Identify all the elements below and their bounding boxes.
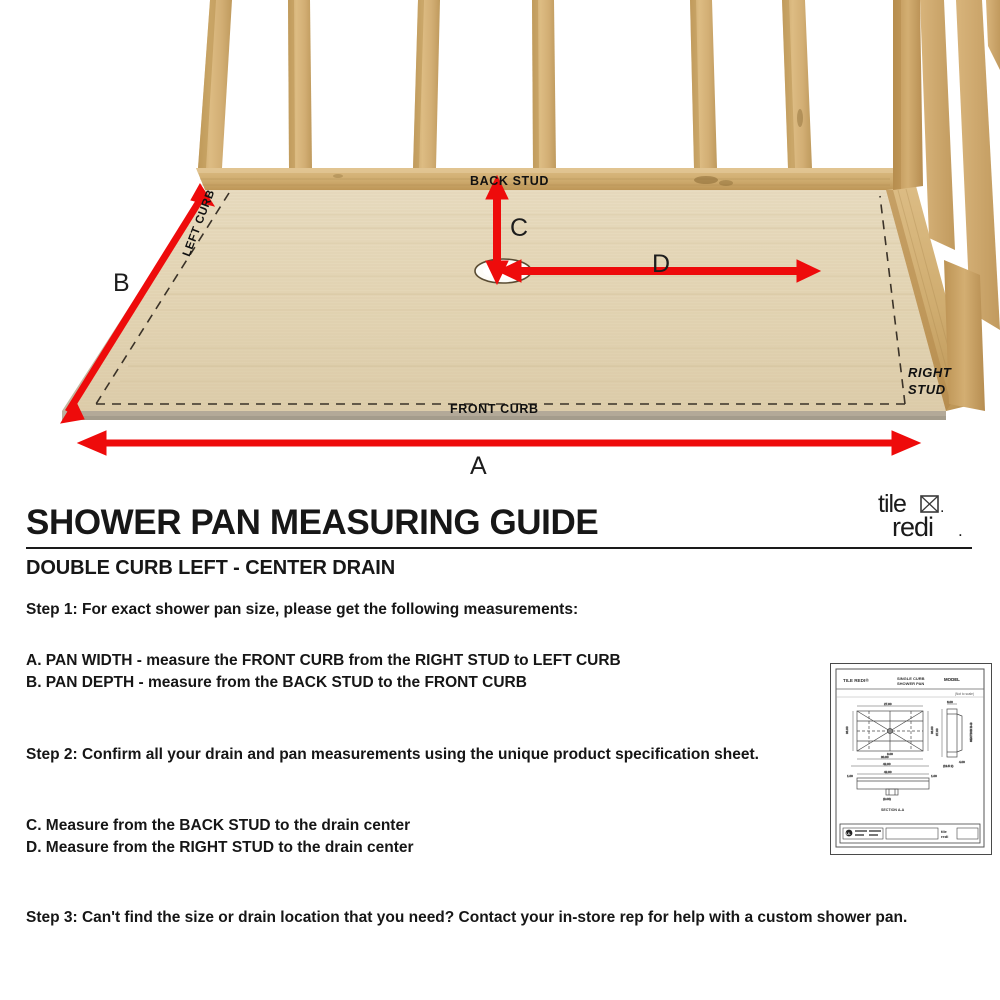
specification-sheet-thumbnail: TILE REDI® SINGLE CURB SHOWER PAN MODEL … xyxy=(830,663,992,855)
measurement-a-text: A. PAN WIDTH - measure the FRONT CURB fr… xyxy=(26,650,826,672)
spec-section-a-label: SECTION A-A xyxy=(881,808,905,812)
back-wall-framing xyxy=(196,0,893,190)
page-title: SHOWER PAN MEASURING GUIDE xyxy=(26,503,726,543)
tile-x-icon xyxy=(921,496,938,512)
svg-text:42.00: 42.00 xyxy=(883,762,891,766)
dimension-letter-b: B xyxy=(113,269,130,298)
measurements-cd: C. Measure from the BACK STUD to the dra… xyxy=(26,815,826,859)
label-right-stud-line1: RIGHT xyxy=(908,364,951,381)
svg-text:.: . xyxy=(940,499,944,516)
dimension-letter-d: D xyxy=(652,250,671,279)
svg-text:redi: redi xyxy=(892,512,933,542)
spec-header-right: MODEL xyxy=(944,677,960,682)
page-subtitle: DOUBLE CURB LEFT - CENTER DRAIN xyxy=(26,557,395,580)
measurement-c-text: C. Measure from the BACK STUD to the dra… xyxy=(26,815,826,837)
svg-text:3.00: 3.00 xyxy=(887,752,893,756)
svg-text:4.00: 4.00 xyxy=(959,760,965,764)
svg-text:37.00: 37.00 xyxy=(935,728,939,736)
right-stud xyxy=(986,0,1000,70)
shower-pan-illustration: BACK STUD FRONT CURB LEFT CURB RIGHT STU… xyxy=(0,0,1000,487)
step-1-text: Step 1: For exact shower pan size, pleas… xyxy=(26,599,826,621)
svg-text:36.00: 36.00 xyxy=(930,726,934,734)
svg-text:1.00: 1.00 xyxy=(931,774,937,778)
label-right-stud: RIGHT STUD xyxy=(908,364,951,398)
svg-text:27.00: 27.00 xyxy=(884,702,892,706)
measurement-b-text: B. PAN DEPTH - measure from the BACK STU… xyxy=(26,672,826,694)
svg-text:36.00: 36.00 xyxy=(845,726,849,734)
svg-text:42.00: 42.00 xyxy=(884,770,892,774)
label-front-curb: FRONT CURB xyxy=(450,402,539,416)
svg-text:6.00: 6.00 xyxy=(947,700,953,704)
svg-text:UL: UL xyxy=(846,832,851,836)
right-stud xyxy=(920,0,955,250)
svg-text:(3.00): (3.00) xyxy=(883,797,891,801)
step-2-text: Step 2: Confirm all your drain and pan m… xyxy=(26,744,826,766)
svg-text:.: . xyxy=(958,521,963,540)
svg-text:SHOWER PAN: SHOWER PAN xyxy=(897,681,924,686)
svg-text:1.00: 1.00 xyxy=(847,774,853,778)
arrow-a xyxy=(78,431,920,455)
dimension-letter-a: A xyxy=(470,452,487,481)
measurements-ab: A. PAN WIDTH - measure the FRONT CURB fr… xyxy=(26,650,826,694)
dimension-letter-c: C xyxy=(510,214,529,243)
spec-section-b-label: SECTION B-B xyxy=(969,722,973,742)
tile-redi-logo: tile . redi . xyxy=(872,488,982,544)
spec-note: (Not to scale) xyxy=(955,692,974,696)
label-back-stud: BACK STUD xyxy=(470,174,549,188)
measurement-d-text: D. Measure from the RIGHT STUD to the dr… xyxy=(26,837,826,859)
spec-footer-brand-2: redi xyxy=(941,834,948,839)
svg-text:(13.5 2): (13.5 2) xyxy=(943,764,953,768)
guide-text-section: tile . redi . SHOWER PAN MEASURING GUIDE… xyxy=(0,487,1000,1000)
step-3-text: Step 3: Can't find the size or drain loc… xyxy=(26,907,976,929)
label-right-stud-line2: STUD xyxy=(908,381,951,398)
title-divider xyxy=(26,547,972,549)
spec-header-left: TILE REDI® xyxy=(843,677,869,683)
